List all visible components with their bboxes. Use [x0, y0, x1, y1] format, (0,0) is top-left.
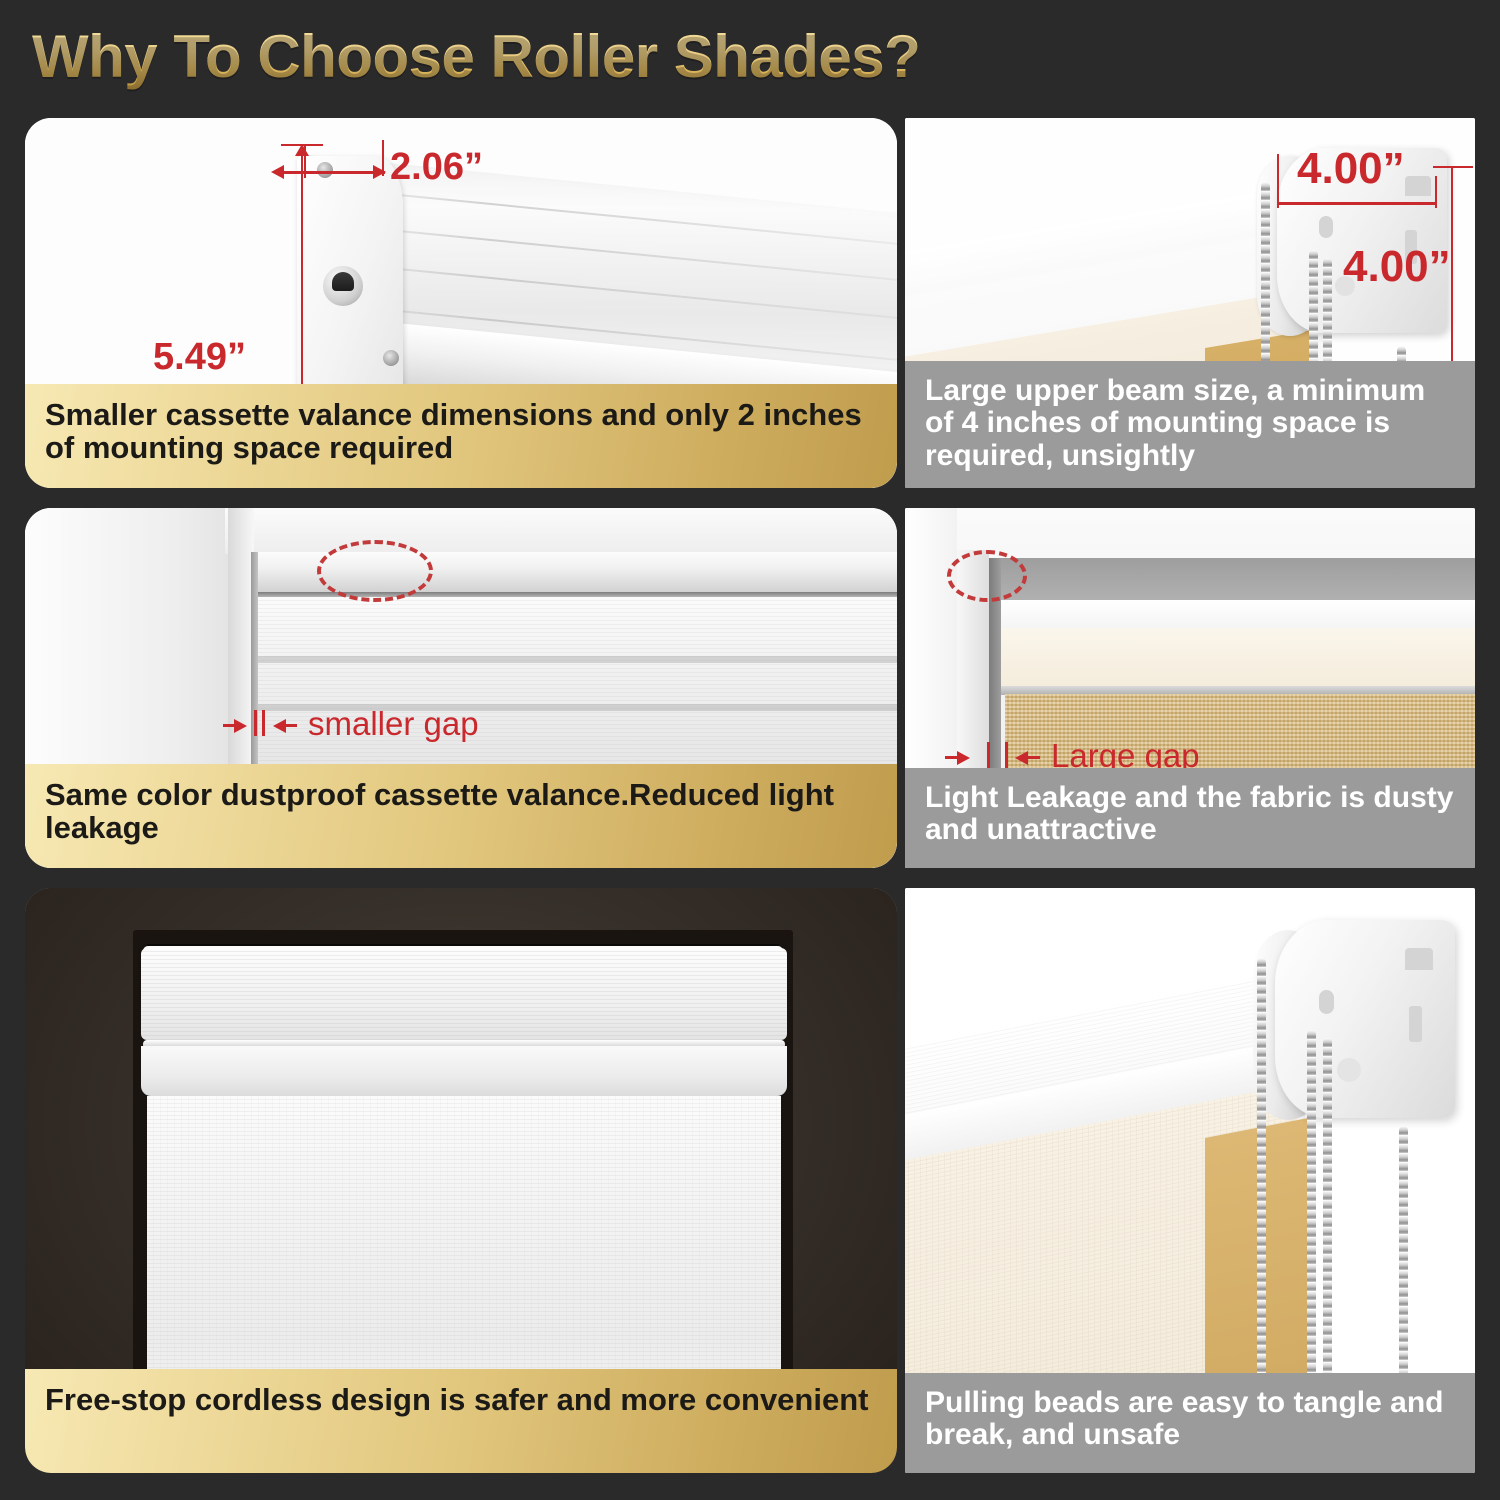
caption-con-light-leakage: Light Leakage and the fabric is dusty an… — [905, 768, 1475, 868]
dimension-label-beam-width: 4.00” — [1297, 144, 1405, 194]
dimension-arrow-left — [271, 165, 284, 179]
dimension-arrow-up — [295, 144, 309, 156]
bead-chain — [1257, 958, 1266, 1378]
panel-con-pull-beads: Pulling beads are easy to tangle and bre… — [905, 888, 1475, 1473]
dimension-arrow-right — [373, 165, 386, 179]
dimension-line-width — [1277, 202, 1437, 205]
highlight-circle-small-gap — [317, 540, 433, 602]
panel-con-light-leakage: Large gap Light Leakage and the fabric i… — [905, 508, 1475, 868]
highlight-circle-large-gap — [947, 550, 1027, 602]
bead-chain — [1399, 1126, 1408, 1378]
dimension-label-height: 5.49” — [153, 336, 246, 379]
caption-pro-dustproof-valance: Same color dustproof cassette valance.Re… — [25, 764, 897, 868]
panel-pro-cordless-design: Free-stop cordless design is safer and m… — [25, 888, 897, 1473]
bead-chain — [1323, 1038, 1332, 1378]
dimension-label-width: 2.06” — [390, 146, 483, 189]
dimension-line-width — [277, 171, 385, 174]
caption-pro-cassette-size: Smaller cassette valance dimensions and … — [25, 384, 897, 488]
dimension-line-height — [1451, 166, 1453, 368]
bead-chain — [1307, 1030, 1316, 1378]
annotation-smaller-gap: smaller gap — [308, 705, 479, 743]
panel-pro-cassette-size: 2.06” 5.49” Smaller cassette valance dim… — [25, 118, 897, 488]
comparison-grid: 2.06” 5.49” Smaller cassette valance dim… — [0, 0, 1500, 1500]
caption-pro-cordless-design: Free-stop cordless design is safer and m… — [25, 1369, 897, 1473]
panel-pro-dustproof-valance: smaller gap Same color dustproof cassett… — [25, 508, 897, 868]
panel-con-large-beam: 4.00” 4.00” Large upper beam size, a min… — [905, 118, 1475, 488]
caption-con-pull-beads: Pulling beads are easy to tangle and bre… — [905, 1373, 1475, 1473]
caption-con-large-beam: Large upper beam size, a minimum of 4 in… — [905, 361, 1475, 488]
dimension-label-beam-height: 4.00” — [1343, 242, 1451, 292]
